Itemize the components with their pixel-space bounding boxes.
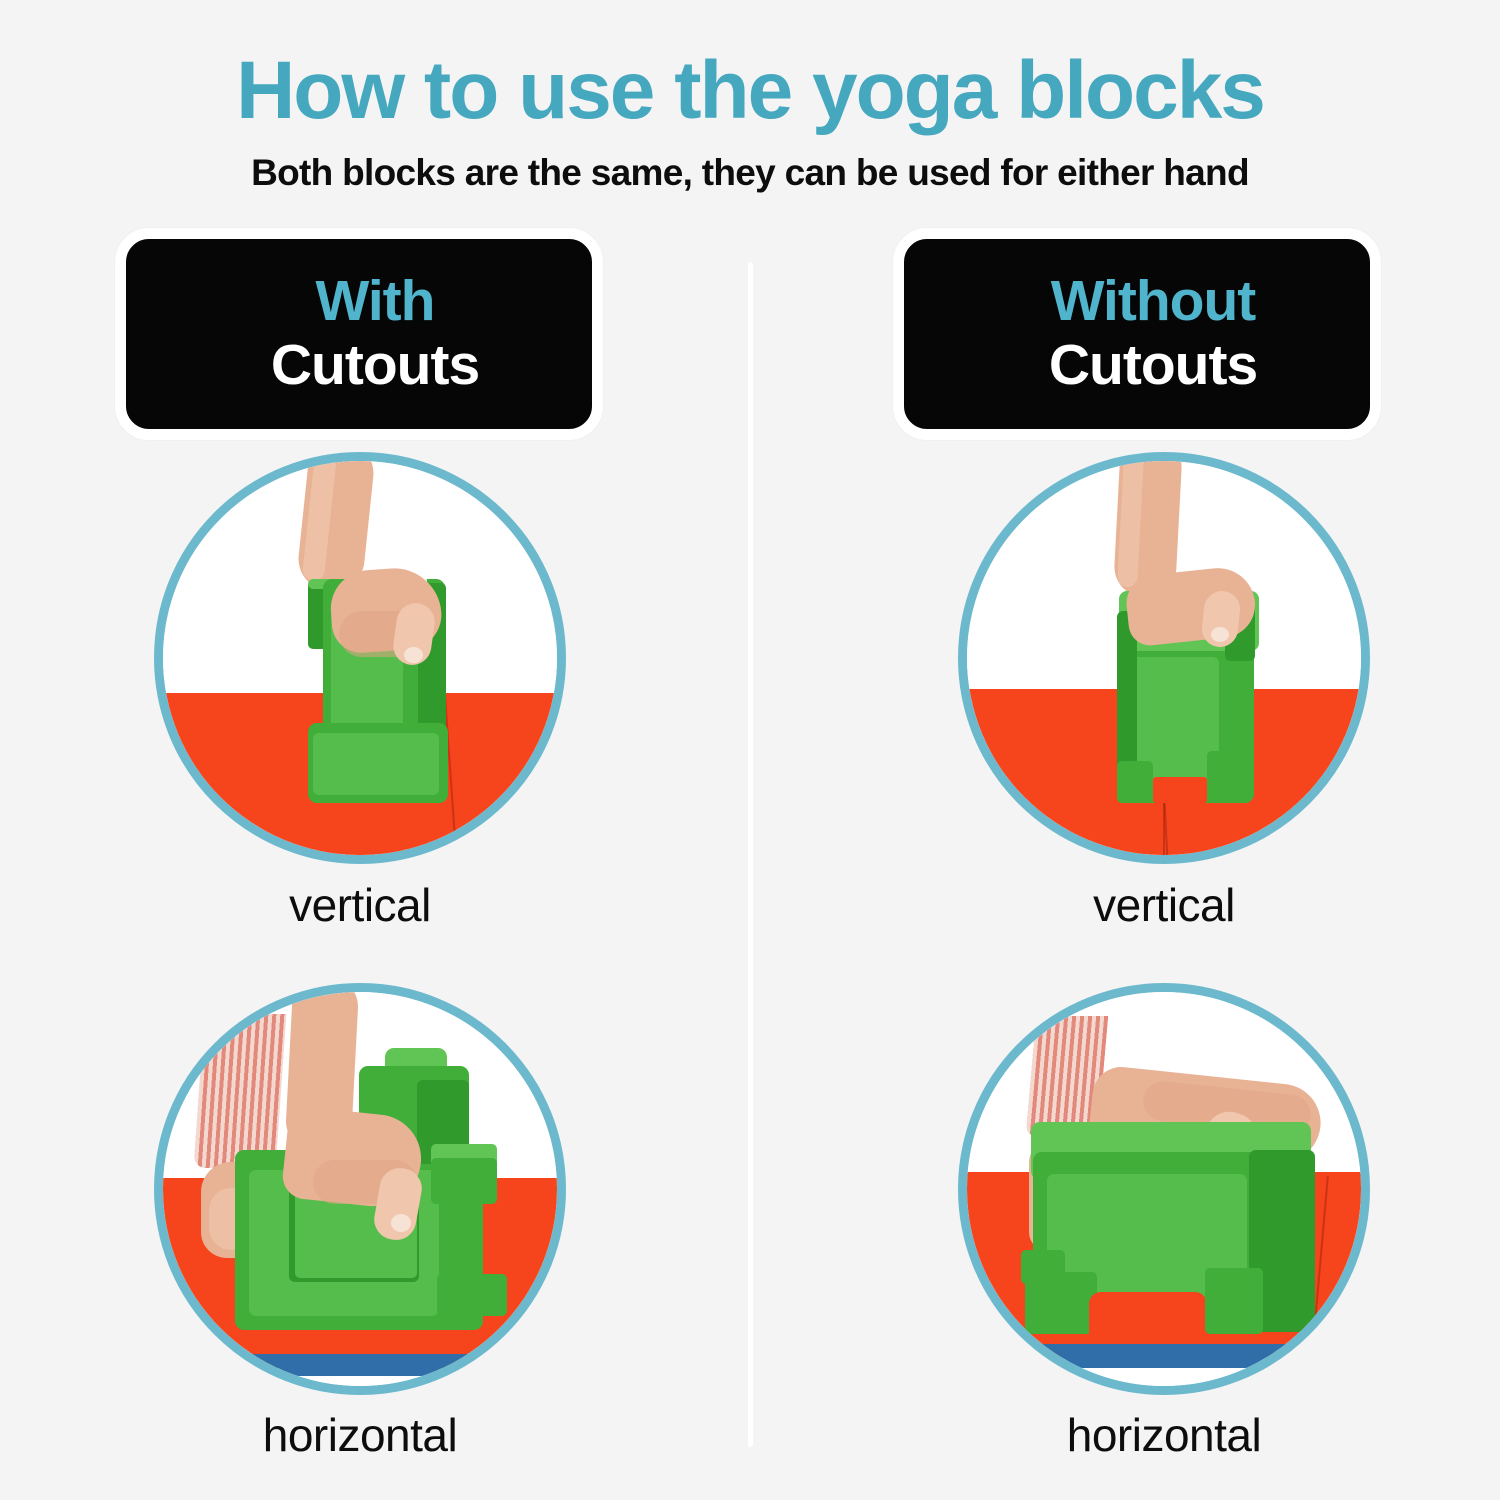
photo-with-cutouts-horizontal (154, 983, 566, 1395)
fingernail (1211, 627, 1229, 642)
page-subtitle: Both blocks are the same, they can be us… (0, 152, 1500, 194)
blue-mat-edge (967, 1344, 1361, 1368)
chip-without-cutouts-line2: Cutouts (1049, 334, 1257, 398)
block-foot-gap (1153, 777, 1207, 803)
block-foot-front (313, 733, 439, 795)
chip-with-cutouts: With Cutouts (115, 228, 603, 440)
block-foot-right (1207, 751, 1251, 803)
block-foot-left (1025, 1272, 1097, 1334)
caption-without-cutouts-vertical: vertical (958, 878, 1370, 932)
block-side-tab-body (431, 1158, 497, 1204)
column-divider (748, 262, 753, 1447)
fingernail (404, 647, 423, 663)
caption-with-cutouts-vertical: vertical (154, 878, 566, 932)
page-title: How to use the yoga blocks (0, 48, 1500, 134)
block-foot-right (1205, 1268, 1263, 1334)
block-base-lip (437, 1274, 507, 1316)
chip-with-cutouts-line1: With (316, 270, 435, 334)
block-foot-gap (1089, 1292, 1207, 1336)
fingernail (391, 1214, 411, 1232)
photo-with-cutouts-vertical (154, 452, 566, 864)
chip-without-cutouts: Without Cutouts (893, 228, 1381, 440)
photo-without-cutouts-horizontal (958, 983, 1370, 1395)
chip-with-cutouts-line2: Cutouts (271, 334, 479, 398)
photo-without-cutouts-vertical (958, 452, 1370, 864)
block-foot-left (1117, 761, 1153, 803)
blue-mat-edge (163, 1354, 557, 1376)
caption-without-cutouts-horizontal: horizontal (958, 1408, 1370, 1462)
poster-root: How to use the yoga blocks Both blocks a… (0, 0, 1500, 1500)
caption-with-cutouts-horizontal: horizontal (154, 1408, 566, 1462)
striped-pants (194, 1014, 287, 1168)
chip-without-cutouts-line1: Without (1051, 270, 1256, 334)
